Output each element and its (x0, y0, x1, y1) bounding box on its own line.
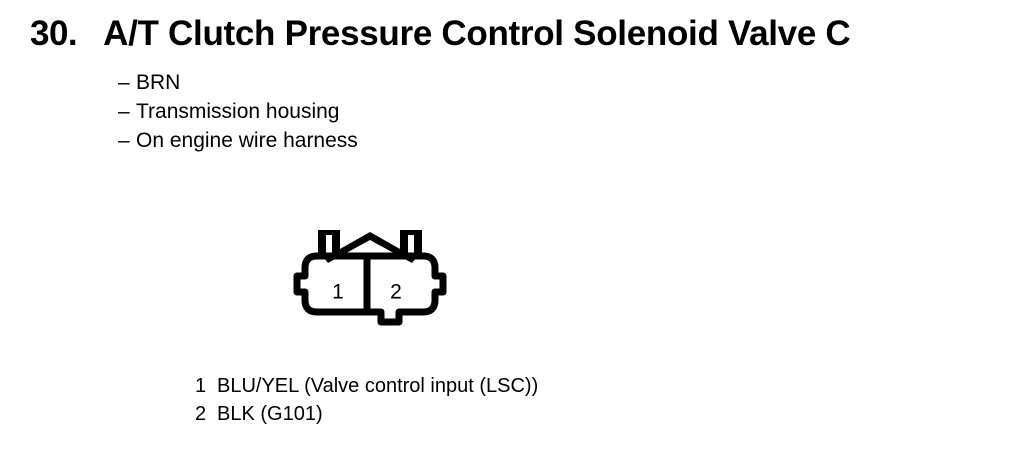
list-item-label: BRN (136, 71, 180, 94)
pin-number: 2 (195, 400, 217, 428)
list-item: –On engine wire harness (118, 126, 358, 155)
page-header: 30. A/T Clutch Pressure Control Solenoid… (30, 14, 850, 54)
list-item: –BRN (118, 68, 358, 97)
attribute-list: –BRN –Transmission housing –On engine wi… (118, 68, 358, 155)
pin-description: BLK (G101) (217, 403, 323, 425)
dash-bullet: – (118, 126, 136, 155)
pin-description: BLU/YEL (Valve control input (LSC)) (217, 375, 538, 397)
page-title: A/T Clutch Pressure Control Solenoid Val… (103, 14, 850, 54)
connector-cavity-1-label: 1 (332, 281, 344, 304)
connector-diagram: 1 2 (285, 228, 455, 328)
pin-legend: 1BLU/YEL (Valve control input (LSC)) 2BL… (195, 372, 538, 428)
dash-bullet: – (118, 68, 136, 97)
header-item-number: 30. (30, 14, 77, 54)
connector-cavity-2-label: 2 (390, 281, 402, 304)
list-item-label: On engine wire harness (136, 129, 358, 152)
dash-bullet: – (118, 97, 136, 126)
pin-number: 1 (195, 372, 217, 400)
connector-outline-svg: 1 2 (285, 228, 455, 328)
connector-body-group (297, 256, 443, 322)
list-item-label: Transmission housing (136, 100, 339, 123)
pin-legend-row: 1BLU/YEL (Valve control input (LSC)) (195, 372, 538, 400)
list-item: –Transmission housing (118, 97, 358, 126)
pin-legend-row: 2BLK (G101) (195, 400, 538, 428)
